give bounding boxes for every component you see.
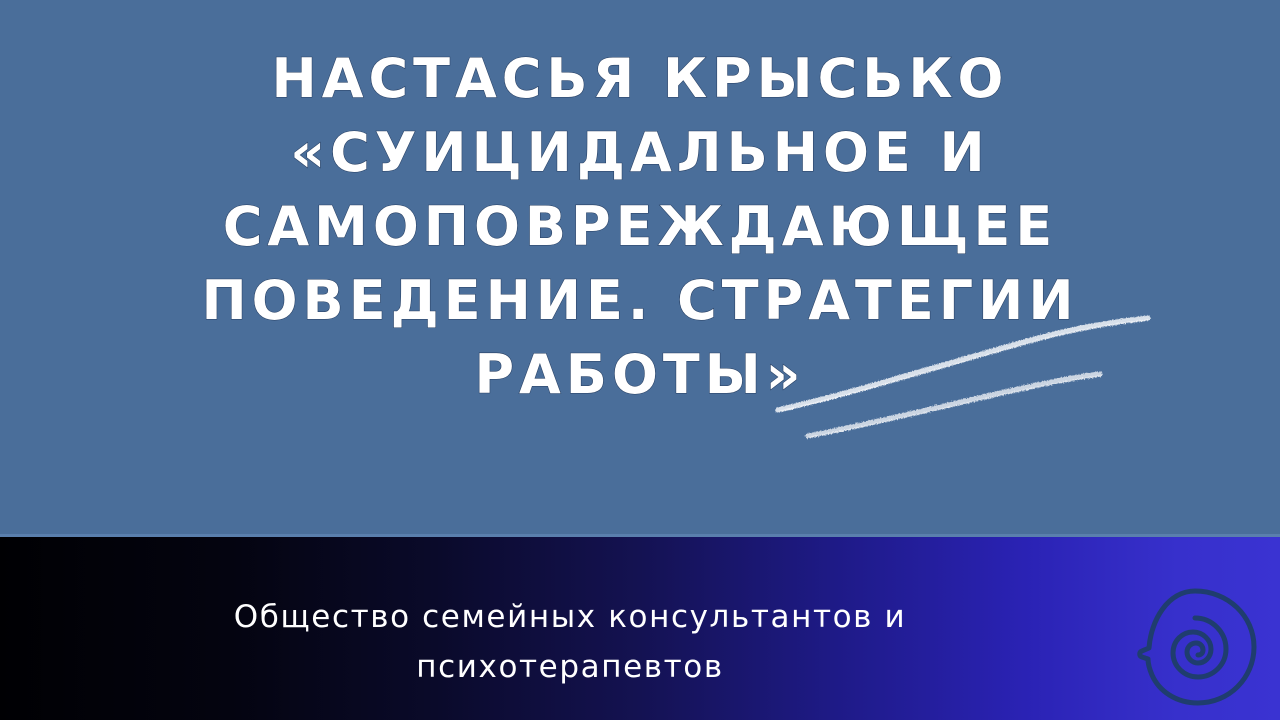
slide-title: НАСТАСЬЯ КРЫСЬКО «СУИЦИДАЛЬНОЕ И САМОПОВ… xyxy=(0,42,1280,412)
organization-name: Общество семейных консультантов и психот… xyxy=(150,592,990,692)
title-line-4: ПОВЕДЕНИЕ. СТРАТЕГИИ xyxy=(0,264,1280,338)
footer-bar: Общество семейных консультантов и психот… xyxy=(0,537,1280,720)
title-line-1: НАСТАСЬЯ КРЫСЬКО xyxy=(0,42,1280,116)
spiral-shell-icon xyxy=(1132,585,1260,709)
organization-name-line-1: Общество семейных консультантов и xyxy=(150,592,990,642)
title-line-2: «СУИЦИДАЛЬНОЕ И xyxy=(0,116,1280,190)
presentation-slide: НАСТАСЬЯ КРЫСЬКО «СУИЦИДАЛЬНОЕ И САМОПОВ… xyxy=(0,0,1280,720)
title-line-3: САМОПОВРЕЖДАЮЩЕЕ xyxy=(0,190,1280,264)
organization-name-line-2: психотерапевтов xyxy=(150,642,990,692)
title-panel: НАСТАСЬЯ КРЫСЬКО «СУИЦИДАЛЬНОЕ И САМОПОВ… xyxy=(0,0,1280,537)
title-line-5: РАБОТЫ» xyxy=(0,338,1280,412)
